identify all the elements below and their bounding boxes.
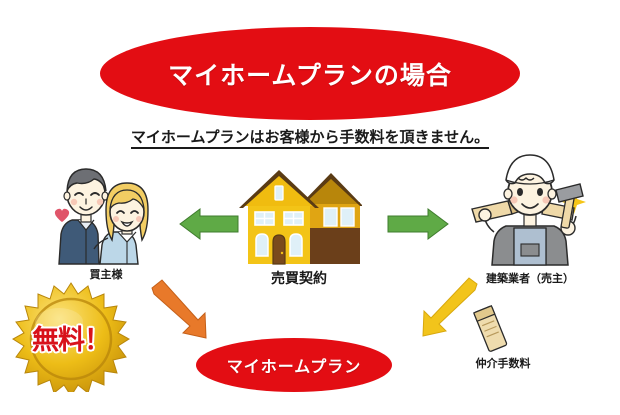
buyers-label: 買主様 xyxy=(48,266,164,282)
fee-node xyxy=(470,305,510,353)
contract-label: 売買契約 xyxy=(236,268,362,288)
plan-banner: マイホームプラン xyxy=(196,338,392,392)
house-illustration-icon xyxy=(236,170,362,266)
arrow-buyers-to-plan-icon xyxy=(150,280,218,346)
builder-label: 建築業者（売主） xyxy=(462,270,598,286)
contract-node xyxy=(236,170,362,266)
starburst-seal-icon xyxy=(12,282,130,392)
subtitle-text: マイホームプランはお客様から手数料を頂きません。 xyxy=(131,129,489,149)
page-title: マイホームプランの場合 xyxy=(168,56,452,92)
arrow-house-to-builder-icon xyxy=(388,206,450,242)
money-envelope-icon xyxy=(470,305,510,353)
arrow-house-to-buyers-icon xyxy=(178,206,238,242)
plan-label: マイホームプラン xyxy=(227,353,362,377)
subtitle: マイホームプランはお客様から手数料を頂きません。 xyxy=(0,126,620,147)
carpenter-illustration-icon xyxy=(468,152,592,268)
free-badge: 無料！ xyxy=(12,282,130,392)
diagram-canvas: マイホームプランの場合 マイホームプランはお客様から手数料を頂きません。 xyxy=(0,0,620,415)
title-banner: マイホームプランの場合 xyxy=(100,27,520,120)
fee-label: 仲介手数料 xyxy=(448,355,558,371)
builder-node xyxy=(468,152,592,268)
couple-illustration-icon xyxy=(48,158,164,266)
buyers-node xyxy=(48,158,164,266)
